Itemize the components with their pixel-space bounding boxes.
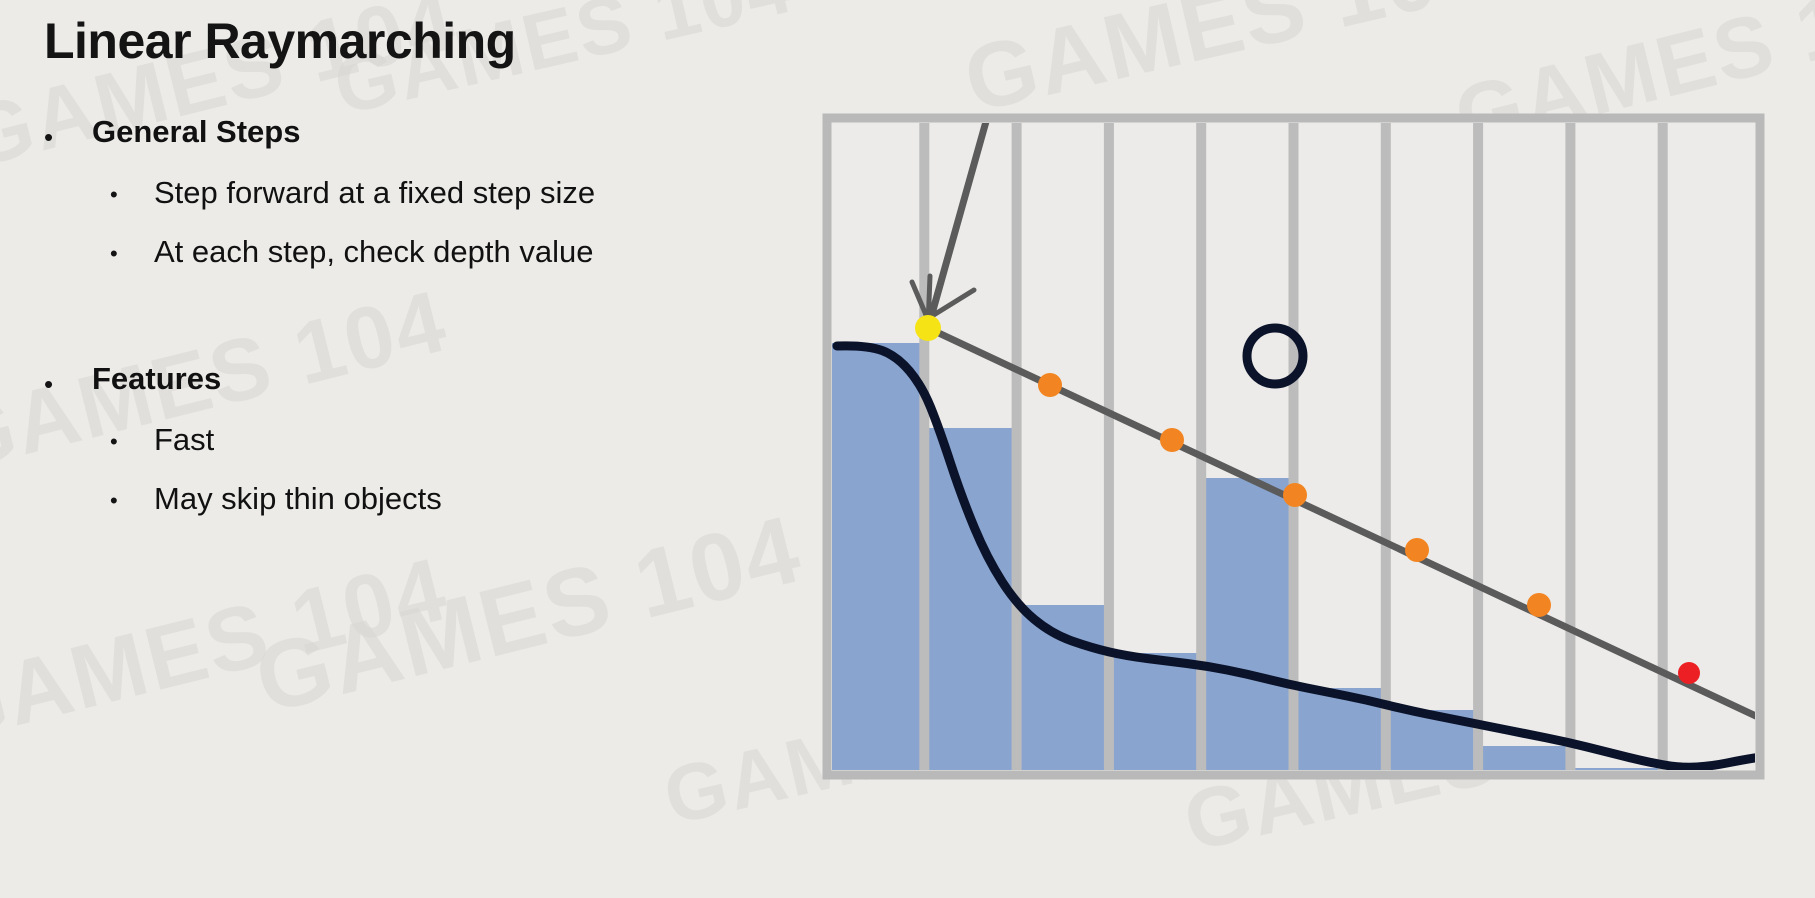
list-item-label: Features — [92, 359, 694, 400]
diagram-svg — [819, 110, 1769, 785]
column-separator — [1473, 123, 1483, 770]
ray-hit-dot — [1678, 662, 1700, 684]
list-item-label: May skip thin objects — [154, 479, 694, 520]
list-item: • General Steps — [34, 112, 694, 153]
ray-arrowhead-barb — [929, 276, 931, 314]
list-item-label: At each step, check depth value — [154, 232, 694, 273]
list-item-label: Fast — [154, 420, 694, 461]
ray-sample-dot — [1405, 538, 1429, 562]
ray-sample-dot — [1527, 593, 1551, 617]
ray-sample-dot — [1283, 483, 1307, 507]
section-gap — [34, 291, 694, 359]
column-separator — [1104, 123, 1114, 770]
bullet-marker-icon: • — [44, 112, 92, 150]
list-item: • Features — [34, 359, 694, 400]
bullet-marker-icon: • — [44, 359, 92, 397]
ray-sample-dot — [1160, 428, 1184, 452]
column-separator — [1289, 123, 1299, 770]
list-item: • At each step, check depth value — [34, 232, 694, 273]
depth-bar — [1017, 605, 1109, 770]
page-title: Linear Raymarching — [44, 14, 516, 69]
column-separator — [1381, 123, 1391, 770]
column-separator — [919, 123, 929, 770]
list-item: • Fast — [34, 420, 694, 461]
list-item-label: General Steps — [92, 112, 694, 153]
column-separator — [1012, 123, 1022, 770]
column-separator — [1196, 123, 1206, 770]
bullet-marker-icon: • — [110, 173, 154, 206]
bullet-marker-icon: • — [110, 479, 154, 512]
depth-bar — [924, 428, 1016, 770]
depth-bar — [1109, 653, 1201, 770]
slide-root: GAMES 104 GAMES 104 GAMES 104 GAMES 104 … — [0, 0, 1815, 898]
depth-bar — [1478, 746, 1570, 770]
ray-sample-dot — [1038, 373, 1062, 397]
list-item: • May skip thin objects — [34, 479, 694, 520]
depth-bar — [832, 343, 924, 770]
watermark-text: GAMES 104 — [0, 538, 458, 765]
depth-bar — [1201, 478, 1293, 770]
ray-start-dot — [915, 315, 941, 341]
column-separator — [1565, 123, 1575, 770]
list-item-label: Step forward at a fixed step size — [154, 173, 694, 214]
bullet-marker-icon: • — [110, 420, 154, 453]
bullet-list: • General Steps • Step forward at a fixe… — [34, 112, 694, 537]
bullet-marker-icon: • — [110, 232, 154, 265]
raymarching-diagram — [819, 110, 1769, 785]
list-item: • Step forward at a fixed step size — [34, 173, 694, 214]
depth-bar — [1570, 768, 1662, 770]
